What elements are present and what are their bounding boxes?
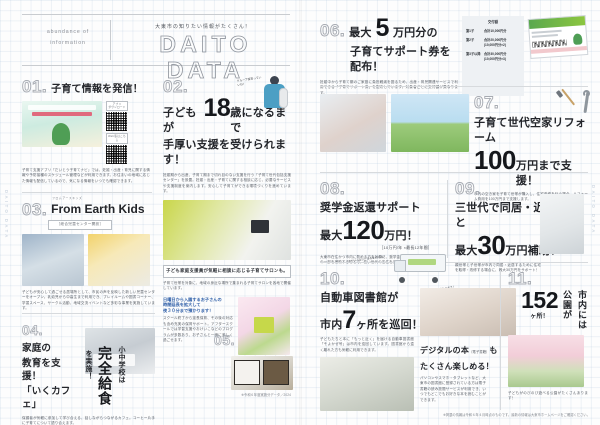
section-10-headline-post: ヶ所を巡回！ — [356, 318, 423, 333]
tools-illustration — [554, 90, 590, 124]
section-10-photo-tablet — [420, 288, 516, 336]
section-02-sub-headline: 日曜日から入園するお子さんの 時間延長を拡大して 夜３０分まで預かります！ — [163, 297, 233, 314]
section-01-qr-block[interactable]: アプリ ダウンロード Web版はこちら — [106, 101, 128, 164]
section-06-table-title: 交付額 — [466, 19, 520, 24]
right-edge-rail-text: DAITO DATA — [591, 185, 596, 235]
section-10-body: 子どもたちと本に「もっと近く」を届ける自動車図書館「そよかぜ号」は市内を巡回して… — [320, 337, 414, 353]
section-03: 03. フロムアースキッズ From Earth Kids ［総合児童センター開… — [22, 200, 155, 311]
section-07-bignum: 100 — [474, 148, 516, 173]
section-07-photo-family — [391, 94, 469, 152]
section-10: 10. 自動車図書館が 市内 7 ヶ所を巡回！ 子どもたちと本に「もっと近く」を… — [320, 270, 520, 411]
section-10-sub-headline-ruby: （電子書籍） — [469, 350, 489, 354]
section-06-table: 交付額 第1子 合計10,000円分 第2子 合計20,000円分 (10,00… — [462, 16, 524, 96]
section-03-headline-en: From Earth Kids — [51, 202, 144, 216]
section-05-headline-center: 完全給食 — [95, 346, 115, 406]
section-10-sub-headline-pre: デジタルの本 — [420, 346, 469, 355]
rule-after-06 — [320, 86, 588, 87]
section-11: 11. 152 ヶ所！ 公園が 市内には 子どもがのびのび遊べる公園がたくさんあ… — [508, 270, 588, 402]
section-05-caption: ※令和６年度実施分データ／2024 — [241, 392, 291, 397]
table-cell-value: 合計10,000円分 — [484, 28, 520, 33]
table-row: 第2子 合計20,000円分 (10,000円分×2) — [466, 37, 520, 47]
masthead-eyebrow: abundance of information — [30, 27, 106, 49]
section-09-photo-generations — [540, 194, 584, 254]
section-10-sub-headline-post: も — [489, 346, 497, 355]
section-02-ribbon-note: 子育て世帯を対象に、地域の身近な場所で集まれる子育てサロンを各地で開催しています… — [163, 281, 291, 292]
section-06-headline-pre: 最大 — [349, 26, 371, 41]
section-06: 06. 最大 5 万円分の 子育てサポート券を配布！ 妊娠中から子育て期のご家庭… — [320, 16, 588, 96]
section-02-illustration: グループ保育っていいね！ — [237, 74, 289, 114]
masthead-divider — [110, 20, 111, 60]
section-06-headline-post: 万円分の — [393, 26, 438, 41]
qr-label-app: アプリ ダウンロード — [106, 101, 128, 111]
rule-after-03 — [22, 313, 155, 314]
section-05-headline-right: 小中学校は — [115, 346, 128, 384]
section-11-number: 11. — [508, 270, 588, 287]
section-05-photo-lunch — [231, 356, 293, 390]
section-04-headline-line2: 教育を支援！ — [22, 357, 80, 383]
masthead-kicker: 大東市の知りたい情報がたくさん！ — [118, 23, 288, 30]
truck-wheel-icon — [432, 277, 438, 283]
section-08-prefix: 最大 — [320, 229, 342, 244]
section-11-bignum: 152 — [521, 290, 558, 310]
section-02-headline-bignum: 18 — [203, 96, 230, 121]
section-08-number: 08. — [320, 180, 444, 197]
masthead-rule-top — [22, 14, 290, 15]
section-11-vtext-mid: 公園が — [560, 290, 573, 320]
divider-08-09 — [447, 180, 448, 258]
section-06-headline-line2: 子育てサポート券を配布！ — [350, 45, 458, 75]
section-01: 01. 子育て情報を発信！ アプリ ダウンロード Web版はこちら 子育て支援ア… — [22, 78, 152, 184]
section-04-headline-line3: 「いくカフェ」 — [22, 385, 80, 411]
illustration-chair — [279, 88, 288, 108]
masthead-eyebrow-line1: abundance of — [30, 27, 106, 38]
page-footnote: ※掲載の情報は令和６年４月時点のものです。最新の情報は大東市ホームページをご確認… — [443, 412, 590, 417]
section-08-headline: 奨学金返還サポート — [320, 201, 444, 216]
section-06-number: 06. — [320, 22, 345, 39]
truck-wheel-icon — [399, 277, 405, 283]
section-10-sub-body: パソコンやスマホ・タブレットなど、大東市の図書館に登録されている方は電子書籍の読… — [420, 376, 486, 403]
table-cell-label: 第3子以降 — [466, 51, 484, 61]
section-02-headline-line2: 手厚い支援を受けられます！ — [163, 138, 291, 168]
qr-code-app[interactable] — [106, 112, 127, 131]
masthead-eyebrow-line2: information — [30, 38, 106, 49]
qr-code-web[interactable] — [106, 145, 127, 164]
section-03-photo-exterior — [22, 234, 84, 286]
section-01-number: 01. — [22, 78, 47, 95]
section-05: 05. を実施！ 完全給食 小中学校は ※令和６年度実施分データ／2024 — [163, 330, 293, 416]
truck-cab-icon — [394, 260, 406, 272]
section-07-photo-renovation — [320, 94, 386, 152]
table-row: 第3子以降 合計30,000円分 (10,000円分×3) — [466, 51, 520, 61]
section-03-ruby: フロムアースキッズ — [52, 196, 82, 200]
bookmobile-illustration — [394, 250, 452, 282]
section-01-photo — [22, 101, 102, 147]
hammer-icon — [561, 89, 575, 106]
divider-10-11 — [500, 270, 501, 410]
section-02: 02. グループ保育っていいね！ 子どもが 18 歳になるまで 手厚い支援を受け… — [163, 78, 291, 355]
section-10-sub-headline2: たくさん楽しめる！ — [420, 360, 520, 373]
section-06-coupon-image — [527, 16, 587, 96]
section-04-headline-line1: 家庭の — [22, 342, 80, 355]
section-02-body: 妊娠期から出産、子育て期まで切れ目のない支援を行う「子育て世代包括支援センター」… — [163, 173, 291, 195]
section-06-headline-bignum: 5 — [376, 16, 389, 41]
left-edge-rail-text: DAITO DATA — [4, 190, 9, 240]
rule-after-09 — [320, 262, 588, 263]
spread-gutter — [299, 0, 302, 425]
qr-label-web: Web版はこちら — [106, 133, 128, 144]
section-09-prefix: 最大 — [455, 244, 477, 259]
section-09-bignum: 30 — [477, 233, 505, 258]
section-01-headline: 子育て情報を発信！ — [51, 83, 143, 96]
table-cell-label: 第1子 — [466, 28, 484, 33]
section-03-photo-playroom — [88, 234, 150, 286]
wrench-head-icon — [583, 90, 590, 97]
section-10-headline-pre: 市内 — [320, 318, 342, 333]
section-10-photo-reader — [320, 357, 414, 411]
section-04-number: 04. — [22, 322, 80, 339]
section-01-body: 子育て支援アプリ「だいとう子育てナビ」では、妊娠・出産・育児に関する情報や予防接… — [22, 168, 150, 184]
rule-after-01 — [22, 192, 152, 193]
section-03-subtitle: ［総合児童センター開設］ — [48, 220, 112, 230]
section-04-body: 保護者が気軽に参加して学び合える、話しながらつながるカフェ。コーヒー片手に子育て… — [22, 416, 155, 425]
table-cell-value: 合計20,000円分 (10,000円分×2) — [484, 37, 520, 47]
section-10-bignum: 7 — [342, 308, 355, 333]
table-cell-value: 合計30,000円分 (10,000円分×3) — [484, 51, 520, 61]
table-row: 第1子 合計10,000円分 — [466, 28, 520, 33]
section-11-photo-park — [508, 335, 584, 387]
section-03-number: 03. — [22, 201, 47, 218]
section-09: 09. 三世代で同居・近居すると 最大 30 万円補助！ 親世帯と子世帯が市内で… — [455, 180, 588, 274]
section-11-vtext-right: 市内には — [575, 290, 588, 330]
brochure-page: DAITO DATA DAITO DATA abundance of infor… — [0, 0, 600, 425]
section-11-caption: 子どもがのびのび遊べる公園がたくさんあります！ — [508, 391, 588, 402]
section-02-ribbon: 子ども家庭支援員が気軽に相談に応じる子育てサロンも。 — [163, 265, 291, 278]
section-02-photo-room — [163, 200, 291, 260]
masthead: abundance of information 大東市の知りたい情報がたくさん… — [22, 14, 290, 66]
section-08-bignum: 120 — [342, 218, 384, 243]
section-05-headline-left: を実施！ — [82, 350, 95, 380]
section-10-sub: デジタルの本（電子書籍）も たくさん楽しめる！ パソコンやスマホ・タブレットなど… — [420, 288, 520, 403]
section-08-suffix: 万円！ — [384, 229, 418, 244]
section-03-body: 子どもが安心して過ごせる居場所として、市民の声を反映した新しい児童センターをオー… — [22, 290, 155, 312]
section-02-balloon-text: グループ保育っていいね！ — [237, 76, 264, 87]
table-cell-label: 第2子 — [466, 37, 484, 47]
section-02-headline-pre: 子どもが — [163, 106, 203, 136]
rule-after-07 — [320, 172, 588, 173]
